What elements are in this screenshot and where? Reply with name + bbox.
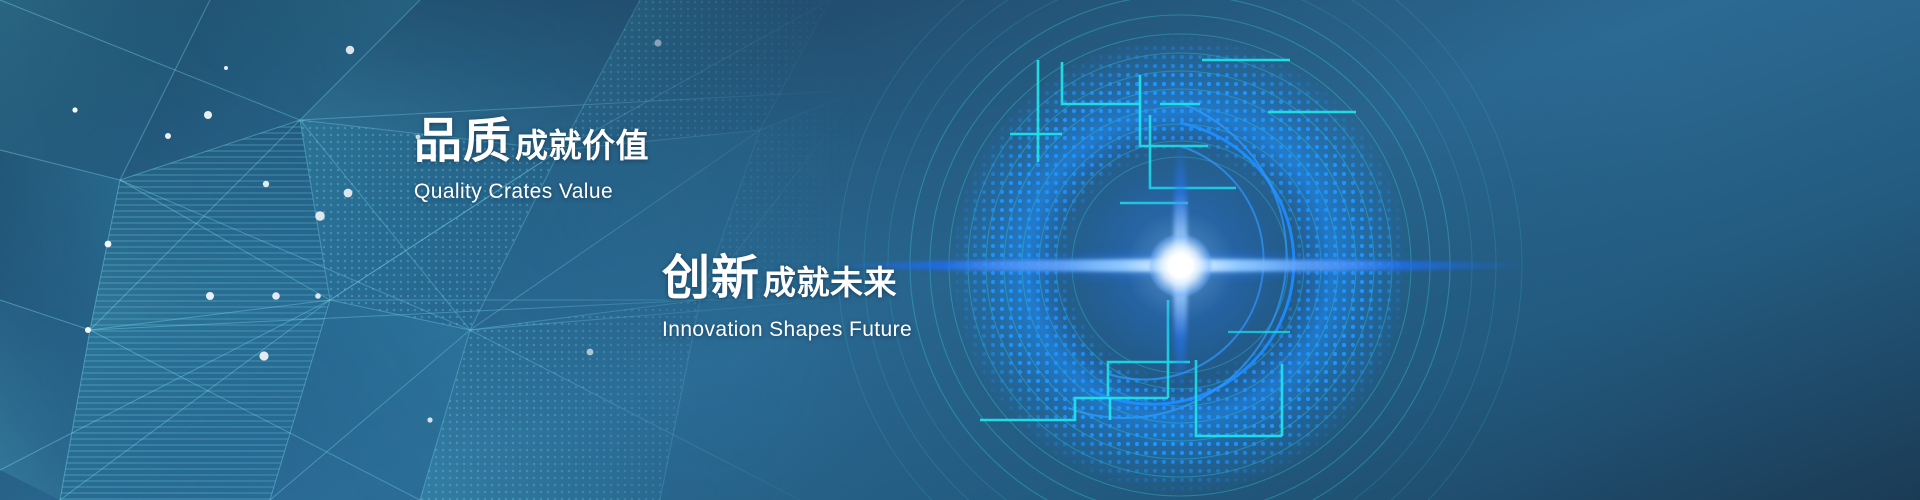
- slogan-innovation-cn-tail: 成就未来: [763, 266, 897, 299]
- slogan-quality-english: Quality Crates Value: [414, 180, 649, 204]
- slogan-block-quality: 品质 成就价值 Quality Crates Value: [414, 118, 649, 204]
- technology-ring-graphic: [0, 0, 1920, 500]
- slogan-block-innovation: 创新 成就未来 Innovation Shapes Future: [662, 255, 912, 342]
- hero-banner: 品质 成就价值 Quality Crates Value 创新 成就未来 Inn…: [0, 0, 1920, 500]
- slogan-innovation-chinese: 创新 成就未来: [662, 255, 912, 303]
- slogan-quality-chinese: 品质 成就价值: [414, 118, 649, 166]
- slogan-quality-cn-tail: 成就价值: [515, 129, 649, 162]
- slogan-quality-cn-lead: 品质: [414, 118, 512, 166]
- slogan-innovation-cn-lead: 创新: [662, 255, 760, 303]
- slogan-innovation-english: Innovation Shapes Future: [662, 318, 912, 342]
